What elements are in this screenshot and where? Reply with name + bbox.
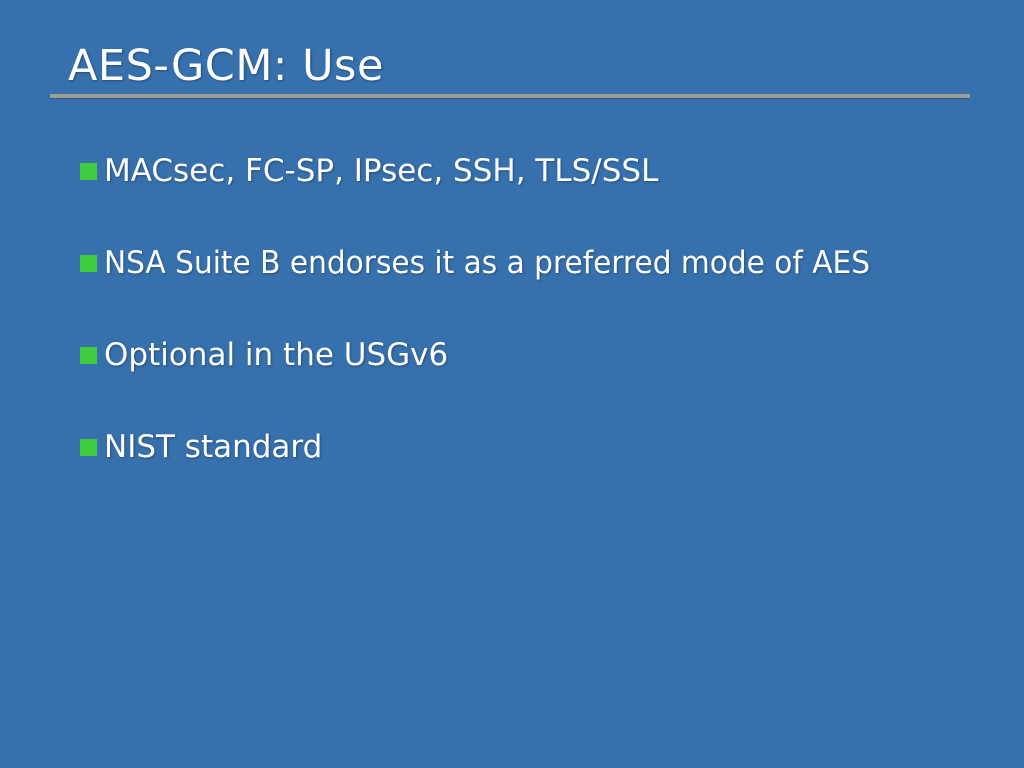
list-item: MACsec, FC-SP, IPsec, SSH, TLS/SSL [80, 148, 1000, 240]
slide-title-block: AES-GCM: Use [50, 38, 970, 100]
list-item-label: NSA Suite B endorses it as a preferred m… [104, 240, 960, 286]
list-item: Optional in the USGv6 [80, 332, 1000, 424]
bullet-list: MACsec, FC-SP, IPsec, SSH, TLS/SSL NSA S… [80, 148, 1000, 516]
list-item-label: NIST standard [104, 424, 1000, 470]
list-item-label: MACsec, FC-SP, IPsec, SSH, TLS/SSL [104, 148, 1000, 194]
presentation-slide: AES-GCM: Use MACsec, FC-SP, IPsec, SSH, … [0, 0, 1024, 768]
square-bullet-icon [80, 439, 97, 456]
square-bullet-icon [80, 255, 97, 272]
list-item: NIST standard [80, 424, 1000, 516]
list-item: NSA Suite B endorses it as a preferred m… [80, 240, 1000, 332]
square-bullet-icon [80, 163, 97, 180]
title-divider [50, 94, 970, 98]
page-title: AES-GCM: Use [68, 38, 384, 94]
list-item-label: Optional in the USGv6 [104, 332, 1000, 378]
square-bullet-icon [80, 347, 97, 364]
